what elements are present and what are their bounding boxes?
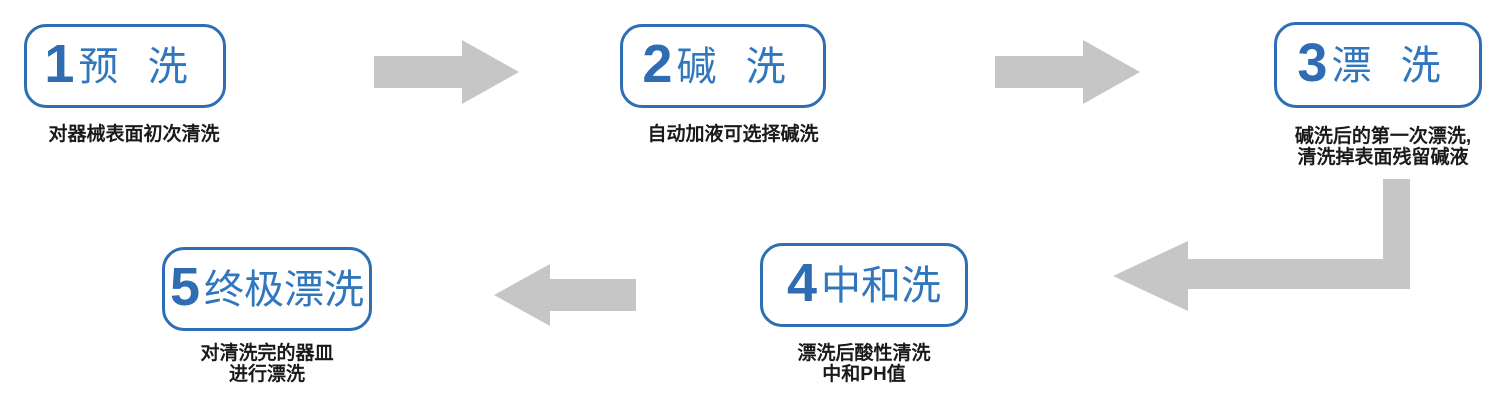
step-caption-2: 自动加液可选择碱洗 xyxy=(613,124,853,145)
step-box-5[interactable]: 5 终极漂洗 xyxy=(162,247,372,331)
arrow-step1-to-step2-icon xyxy=(374,40,519,104)
step-caption-5: 对清洗完的器皿 进行漂洗 xyxy=(147,343,387,386)
process-flow-diagram: 1 预 洗 对器械表面初次清洗 2 碱 洗 自动加液可选择碱洗 3 漂 洗 碱洗… xyxy=(0,0,1510,414)
step-caption-1: 对器械表面初次清洗 xyxy=(14,124,254,145)
step-number-1: 1 xyxy=(44,37,74,91)
step-number-4: 4 xyxy=(787,256,817,310)
step-box-1[interactable]: 1 预 洗 xyxy=(24,24,226,108)
step-caption-4: 漂洗后酸性清洗 中和PH值 xyxy=(744,343,984,386)
arrow-step2-to-step3-icon xyxy=(995,40,1140,104)
step-number-5: 5 xyxy=(170,260,200,314)
step-label-1: 预 洗 xyxy=(78,47,205,87)
step-box-2[interactable]: 2 碱 洗 xyxy=(620,24,826,108)
step-number-3: 3 xyxy=(1297,36,1327,90)
arrow-step3-to-step4-icon xyxy=(1113,179,1413,311)
arrow-step4-to-step5-icon xyxy=(494,264,636,326)
step-label-2: 碱 洗 xyxy=(676,47,803,87)
step-box-3[interactable]: 3 漂 洗 xyxy=(1274,22,1482,108)
step-caption-3: 碱洗后的第一次漂洗, 清洗掉表面残留碱液 xyxy=(1265,126,1501,169)
step-label-3: 漂 洗 xyxy=(1331,46,1458,86)
step-number-2: 2 xyxy=(642,37,672,91)
step-label-4: 中和洗 xyxy=(821,266,941,306)
step-label-5: 终极漂洗 xyxy=(204,270,364,310)
step-box-4[interactable]: 4 中和洗 xyxy=(760,243,968,327)
